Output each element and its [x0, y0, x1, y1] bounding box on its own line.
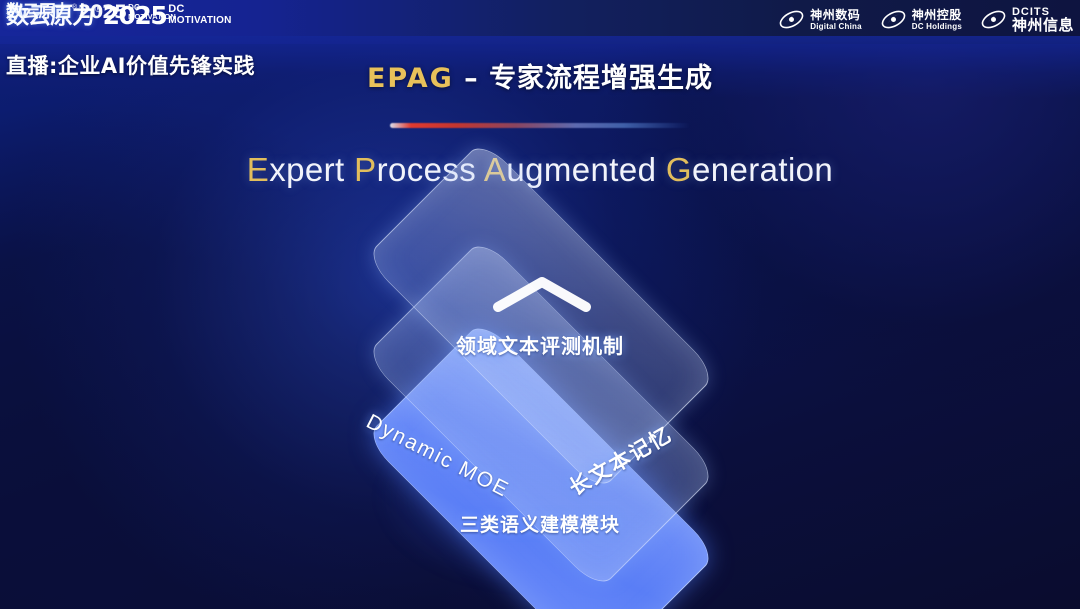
watermark-year: 2025	[78, 3, 126, 22]
slide-canvas: 数云原力 ® 2025 DC MOTIVATION 直播:企业AI价值先锋实践 …	[0, 0, 1080, 609]
corner-watermark-logo: 数云原力 ® 2025 DC MOTIVATION	[6, 3, 1072, 605]
watermark-motivation-text: MOTIVATION	[128, 13, 176, 21]
watermark-dc-motivation: DC MOTIVATION	[128, 4, 176, 21]
watermark-dc-text: DC	[128, 4, 176, 12]
watermark-name-cn: 数云原力	[6, 3, 71, 22]
watermark-registered-mark: ®	[72, 3, 77, 12]
